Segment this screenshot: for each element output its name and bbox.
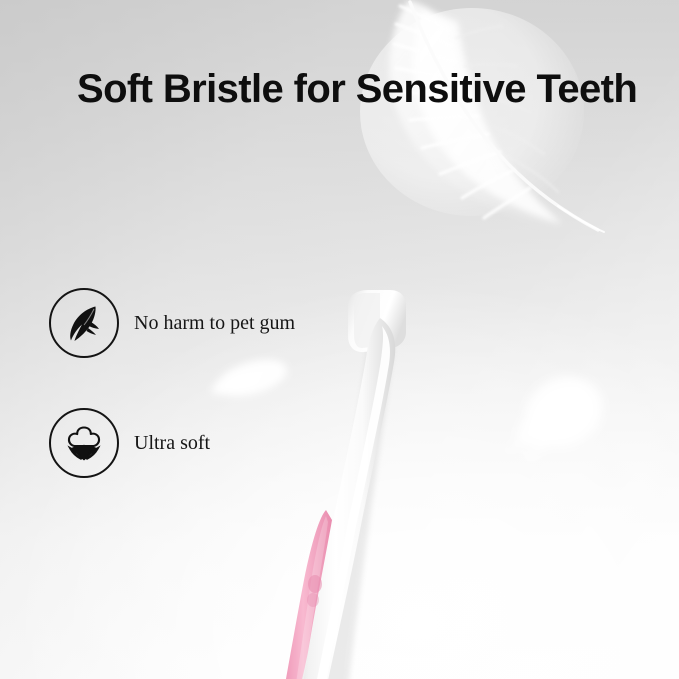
feature-item-no-harm: No harm to pet gum: [49, 287, 349, 359]
cotton-badge-icon: [49, 408, 119, 478]
feather-badge-icon: [49, 288, 119, 358]
feature-label: No harm to pet gum: [134, 311, 295, 335]
product-feature-poster: Soft Bristle for Sensitive Teeth No harm…: [0, 0, 679, 679]
feature-list: No harm to pet gum Ultra soft: [49, 287, 349, 527]
feature-label: Ultra soft: [134, 431, 210, 455]
feature-item-ultra-soft: Ultra soft: [49, 407, 349, 479]
feather-icon: [61, 300, 107, 346]
cotton-boll-icon: [61, 420, 107, 466]
page-title: Soft Bristle for Sensitive Teeth: [77, 66, 597, 112]
